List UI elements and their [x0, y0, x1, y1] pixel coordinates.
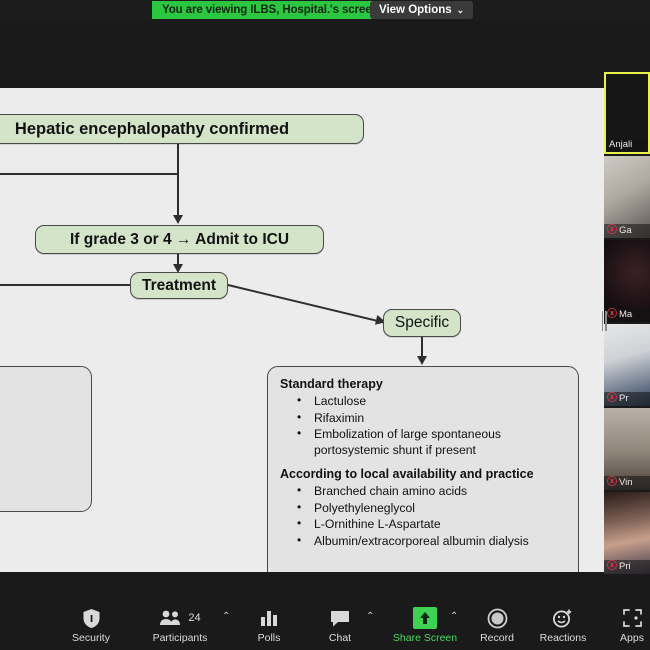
- list-item: Polyethyleneglycol: [280, 501, 566, 517]
- participant-tile[interactable]: ⓧ Ma: [604, 240, 650, 322]
- screen-share-top-bar: You are viewing ILBS, Hospital.'s screen…: [0, 0, 650, 20]
- connector-horizontal-branch: [0, 173, 179, 175]
- list-item: Lactulose: [280, 394, 566, 410]
- chevron-down-icon: ⌄: [457, 6, 465, 15]
- participant-tile[interactable]: ⓧ Pri: [604, 492, 650, 574]
- polls-icon: [259, 606, 279, 630]
- connector-treatment-to-specific: [228, 284, 384, 323]
- flow-node-admit-icu: If grade 3 or 4 → Admit to ICU: [35, 225, 324, 254]
- security-button[interactable]: Security: [57, 606, 125, 644]
- handle-bar: [602, 311, 604, 331]
- participant-tile[interactable]: ⓧ Pr: [604, 324, 650, 406]
- apps-button[interactable]: Apps: [598, 606, 650, 644]
- view-options-button[interactable]: View Options ⌄: [370, 1, 473, 19]
- chat-label: Chat: [329, 633, 351, 644]
- participants-label: Participants: [153, 633, 208, 644]
- precip-line-3: ct: [0, 453, 81, 469]
- participants-count: 24: [188, 612, 200, 624]
- participants-button[interactable]: 24 Participants: [146, 606, 214, 644]
- filmstrip-collapse-handle[interactable]: [601, 310, 607, 332]
- mic-muted-icon: ⓧ: [607, 394, 617, 404]
- participant-name-label: ⓧ Ga: [604, 224, 650, 238]
- flow-node-specific: Specific: [383, 309, 461, 337]
- standard-therapy-list: Lactulose Rifaximin Embolization of larg…: [280, 394, 566, 458]
- polls-label: Polls: [258, 633, 281, 644]
- list-item-wrap-text: portosystemic shunt if present: [314, 443, 476, 457]
- reactions-icon: [552, 606, 574, 630]
- reactions-button[interactable]: Reactions: [529, 606, 597, 644]
- connector-left-branch: [0, 284, 132, 286]
- shared-screen-content[interactable]: Hepatic encephalopathy confirmed If grad…: [0, 88, 604, 572]
- precipitating-factor-panel: factor e expansion l ct rt: [0, 366, 92, 512]
- share-screen-label: Share Screen: [393, 633, 457, 644]
- flow-node-hepatic-encephalopathy: Hepatic encephalopathy confirmed: [0, 114, 364, 144]
- participant-name: Pri: [619, 561, 631, 572]
- flow-node-label: If grade 3 or 4 → Admit to ICU: [70, 231, 289, 249]
- viewing-screen-notice: You are viewing ILBS, Hospital.'s screen: [152, 1, 388, 19]
- viewing-screen-text: You are viewing ILBS, Hospital.'s screen: [162, 4, 378, 16]
- flow-node-treatment: Treatment: [130, 272, 228, 299]
- share-chevron-up-icon[interactable]: ⌃: [450, 611, 458, 622]
- local-availability-list: Branched chain amino acids Polyethyleneg…: [280, 484, 566, 549]
- mic-muted-icon: ⓧ: [607, 562, 617, 572]
- share-screen-icon: [413, 606, 437, 630]
- record-button[interactable]: Record: [463, 606, 531, 644]
- participant-name: Ga: [619, 225, 632, 236]
- precip-line-1: e expansion: [0, 402, 81, 418]
- participant-name-label: ⓧ Pr: [604, 392, 650, 406]
- view-options-label: View Options: [379, 4, 452, 16]
- participant-tile[interactable]: Anjali: [604, 72, 650, 154]
- mic-muted-icon: ⓧ: [607, 478, 617, 488]
- participant-tile[interactable]: ⓧ Ga: [604, 156, 650, 238]
- mic-muted-icon: ⓧ: [607, 310, 617, 320]
- participant-tile[interactable]: ⓧ Vin: [604, 408, 650, 490]
- standard-therapy-heading: Standard therapy: [280, 377, 566, 391]
- chat-button[interactable]: Chat: [306, 606, 374, 644]
- handle-bar: [605, 311, 607, 331]
- participant-name-label: ⓧ Pri: [604, 560, 650, 574]
- flow-node-label: Treatment: [142, 277, 216, 295]
- list-item: Embolization of large spontaneous portos…: [280, 427, 566, 458]
- apps-label: Apps: [620, 633, 644, 644]
- participant-name-label: ⓧ Vin: [604, 476, 650, 490]
- participant-name: Ma: [619, 309, 632, 320]
- participant-name-label: ⓧ Ma: [604, 308, 650, 322]
- precip-panel-heading: factor: [0, 376, 81, 390]
- flow-node-label: Specific: [395, 314, 449, 332]
- precip-line-4: rt: [0, 469, 81, 485]
- list-item: Albumin/extracorporeal albumin dialysis: [280, 534, 566, 550]
- participant-name: Anjali: [609, 139, 632, 150]
- local-availability-heading: According to local availability and prac…: [280, 467, 566, 481]
- record-label: Record: [480, 633, 514, 644]
- list-item: Branched chain amino acids: [280, 484, 566, 500]
- participant-filmstrip[interactable]: Anjali ⓧ Ga ⓧ Ma ⓧ Pr ⓧ Vin ⓧ: [604, 72, 650, 582]
- connector-he-down: [177, 144, 179, 174]
- arrow-to-standard-icon: [417, 356, 427, 365]
- participants-icon: 24: [159, 606, 200, 630]
- reactions-label: Reactions: [540, 633, 587, 644]
- list-item: L-Ornithine L-Aspartate: [280, 517, 566, 533]
- security-label: Security: [72, 633, 110, 644]
- apps-icon: [622, 606, 643, 630]
- list-item-text: Embolization of large spontaneous: [314, 427, 501, 441]
- record-icon: [487, 606, 508, 630]
- connector-specific-to-standard: [421, 337, 423, 358]
- zoom-bottom-toolbar[interactable]: Security 24 Participants ⌃ Polls Chat ⌃ …: [0, 582, 650, 650]
- connector-to-icu: [177, 173, 179, 216]
- arrow-to-icu-icon: [173, 215, 183, 224]
- mic-muted-icon: ⓧ: [607, 226, 617, 236]
- polls-button[interactable]: Polls: [235, 606, 303, 644]
- participant-name: Vin: [619, 477, 633, 488]
- list-item: Rifaximin: [280, 411, 566, 427]
- flow-node-label: Hepatic encephalopathy confirmed: [15, 120, 289, 139]
- participants-chevron-up-icon[interactable]: ⌃: [222, 611, 230, 622]
- participant-name-label: Anjali: [606, 138, 648, 152]
- standard-therapy-panel: Standard therapy Lactulose Rifaximin Emb…: [267, 366, 579, 572]
- chat-icon: [329, 606, 351, 630]
- shield-icon: [82, 606, 101, 630]
- precip-line-2: l: [0, 418, 81, 434]
- participant-name: Pr: [619, 393, 629, 404]
- chat-chevron-up-icon[interactable]: ⌃: [366, 611, 374, 622]
